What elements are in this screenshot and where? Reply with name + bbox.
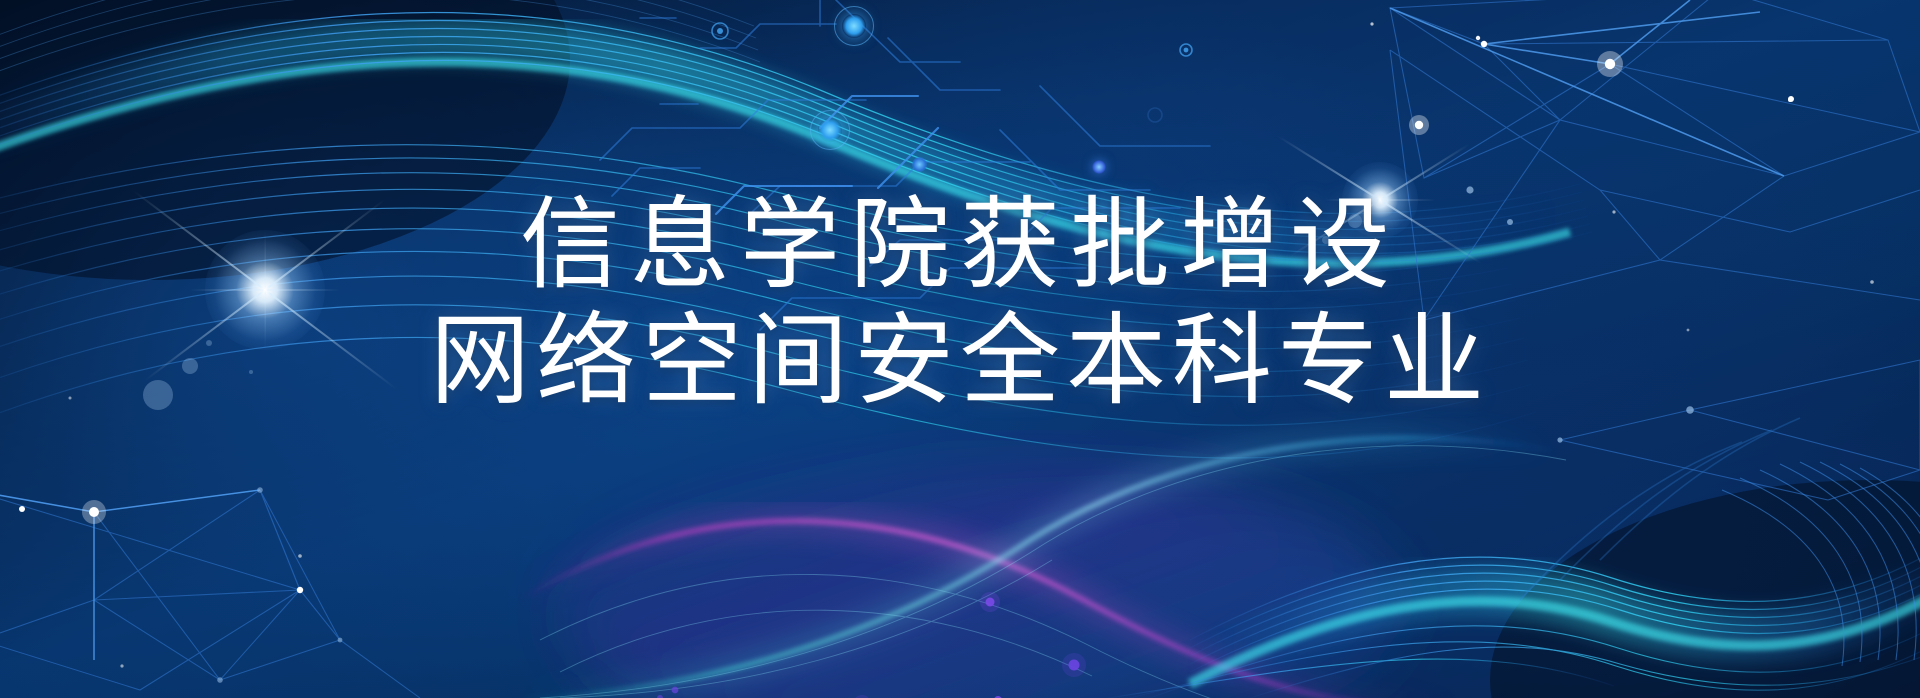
circuit-node-d: [1092, 160, 1106, 174]
title-line-1: 信息学院获批增设: [0, 188, 1920, 304]
circuit-node-b-ring: [810, 110, 850, 150]
banner-title: 信息学院获批增设 网络空间安全本科专业: [0, 188, 1920, 420]
circuit-node-c: [912, 157, 927, 172]
title-line-2: 网络空间安全本科专业: [0, 304, 1920, 420]
banner-hero: 信息学院获批增设 网络空间安全本科专业: [0, 0, 1920, 698]
circuit-node-a-ring: [834, 6, 874, 46]
